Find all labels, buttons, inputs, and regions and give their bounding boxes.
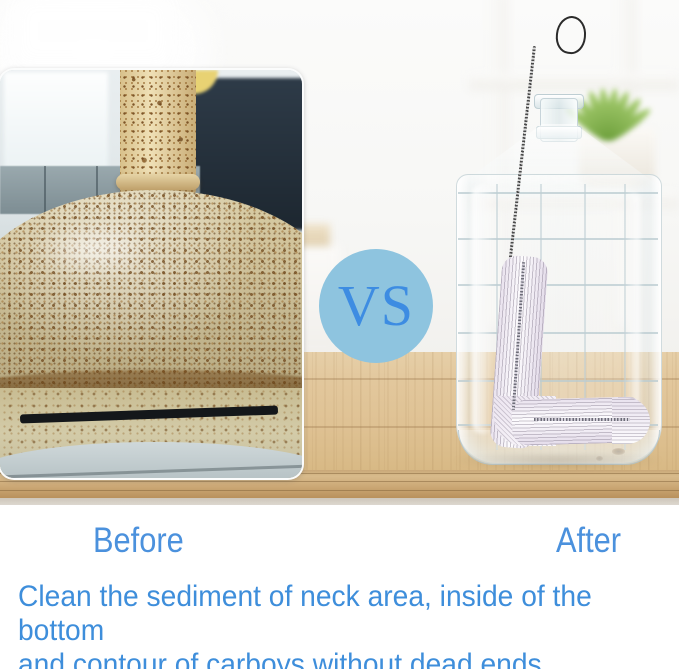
carboy-contact-shadow (454, 454, 662, 470)
vs-badge: VS (319, 249, 433, 363)
window-pane (18, 0, 168, 62)
inset-glass-highlight (30, 220, 150, 280)
vs-badge-text: VS (338, 277, 414, 335)
carboy-highlight-right (624, 192, 640, 422)
caption-text: Clean the sediment of neck area, inside … (18, 580, 638, 669)
carboy-highlight-left (472, 184, 494, 434)
brush-core-wire-horizontal (534, 418, 630, 421)
label-after: After (556, 523, 621, 558)
caption-area: Before After Clean the sediment of neck … (0, 505, 679, 669)
product-comparison-image: VS Before After Clean the sediment of ne… (0, 0, 679, 669)
dirty-neck-ring (116, 174, 200, 190)
label-before: Before (93, 523, 184, 558)
before-inset-photo (0, 68, 304, 480)
photo-scene: VS (0, 0, 679, 512)
